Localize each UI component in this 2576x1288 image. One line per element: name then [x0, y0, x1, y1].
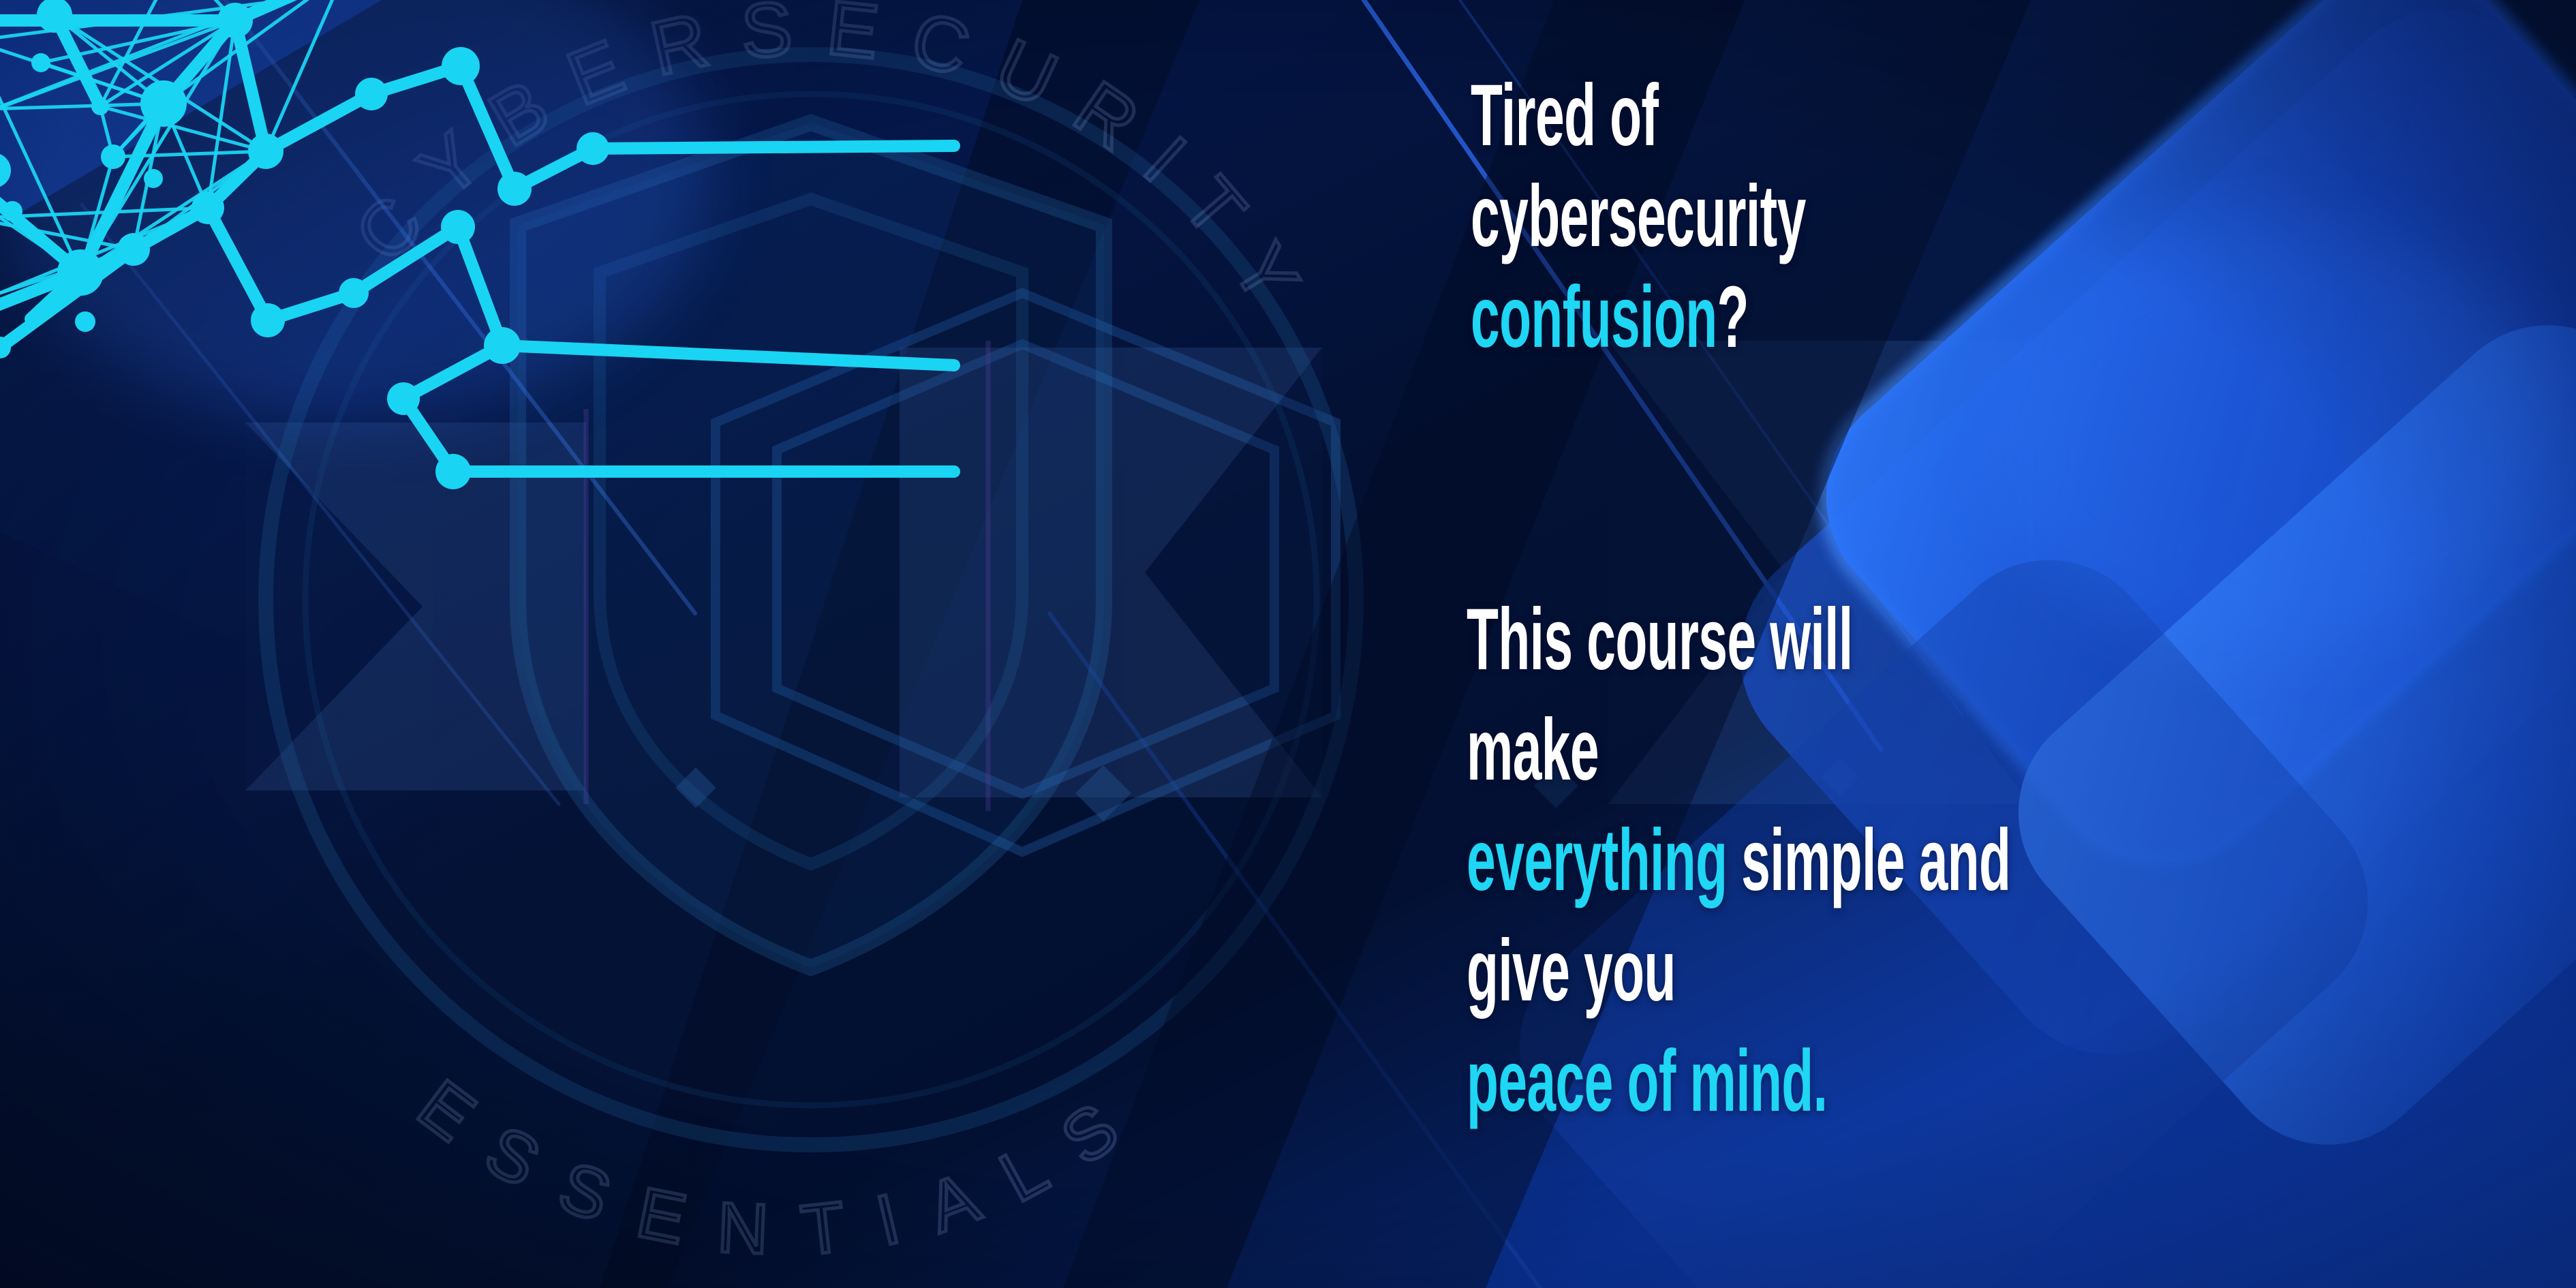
- subhead-accent-everything: everything: [1467, 812, 1727, 909]
- promo-banner: CYBERSECURITY ESSENTIALS: [0, 0, 2576, 1288]
- headline-accent-confusion: confusion: [1471, 269, 1717, 366]
- headline-block-secondary: This course will make everything simple …: [1467, 585, 2576, 1137]
- headline-question-mark: ?: [1717, 269, 1749, 366]
- subhead-tail-simple-and: simple and: [1727, 812, 2010, 909]
- subhead-line-5: peace of mind.: [1467, 1026, 2203, 1137]
- headline-line-1: Tired of: [1471, 65, 2207, 166]
- subhead-line-3: everything simple and: [1467, 806, 2203, 916]
- headline-line-2: cybersecurity: [1471, 166, 2207, 267]
- subhead-period: .: [1813, 1032, 1828, 1130]
- subhead-line-4: give you: [1467, 916, 2203, 1026]
- headline-block-primary: Tired of cybersecurity confusion?: [1471, 65, 2576, 368]
- headline-line-3: confusion?: [1471, 267, 2207, 368]
- subhead-line-2: make: [1467, 695, 2203, 806]
- subhead-line-1: This course will: [1467, 585, 2203, 695]
- subhead-accent-peace-of-mind: peace of mind: [1467, 1032, 1813, 1130]
